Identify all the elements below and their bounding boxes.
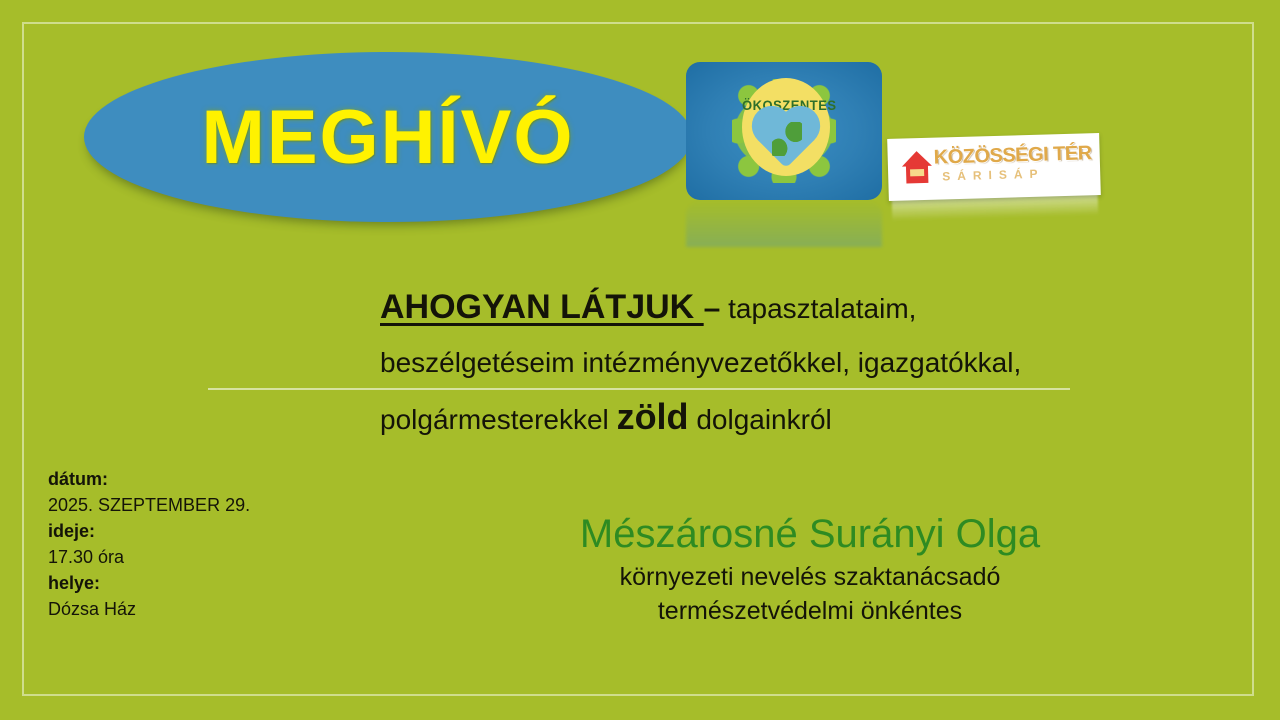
kozossegi-ter-logo-text: KÖZÖSSÉGI TÉR [933,142,1092,169]
okoszentes-logo-plate: ÖKOSZENTES [686,62,882,200]
speaker-role-line-2: természetvédelmi önkéntes [440,594,1180,628]
body-text-block: AHOGYAN LÁTJUK – tapasztalataim, beszélg… [380,280,1210,447]
kozossegi-ter-logo-subtext: SÁRISÁP [942,167,1045,184]
okoszentes-logo-reflection [686,201,882,247]
body-line-3-pre: polgármesterekkel [380,404,617,435]
body-line-3: polgármesterekkel zöld dolgainkról [380,390,1210,447]
kozossegi-ter-plaque: KÖZÖSSÉGI TÉR SÁRISÁP [887,133,1101,201]
house-icon [902,151,933,184]
body-line-3-post: dolgainkról [689,404,832,435]
body-line-2: beszélgetéseim intézményvezetőkkel, igaz… [380,336,1210,390]
body-lead-emphasis: AHOGYAN LÁTJUK [380,288,704,326]
event-details: dátum: 2025. SZEPTEMBER 29. ideje: 17.30… [48,466,250,622]
page-title: MEGHÍVÓ [84,52,692,222]
place-label: helye: [48,570,250,596]
time-value: 17.30 óra [48,544,250,570]
title-ellipse: MEGHÍVÓ [84,52,692,222]
invitation-poster: MEGHÍVÓ ÖKOSZENTES KÖZÖSSÉGI TÉR SÁRISÁP [0,0,1280,720]
body-line-1: AHOGYAN LÁTJUK – tapasztalataim, [380,280,1210,336]
speaker-block: Mészárosné Surányi Olga környezeti nevel… [440,508,1180,628]
time-label: ideje: [48,518,250,544]
house-window-icon [910,169,924,176]
date-value: 2025. SZEPTEMBER 29. [48,492,250,518]
body-dash: – [704,292,721,325]
body-line-1-rest: tapasztalataim, [720,293,916,324]
speaker-role-line-1: környezeti nevelés szaktanácsadó [440,560,1180,594]
speaker-name: Mészárosné Surányi Olga [440,508,1180,560]
kozossegi-ter-logo: KÖZÖSSÉGI TÉR SÁRISÁP [887,133,1101,201]
date-label: dátum: [48,466,250,492]
okoszentes-logo: ÖKOSZENTES [686,62,882,200]
body-line-3-emphasis: zöld [617,396,689,437]
place-value: Dózsa Ház [48,596,250,622]
